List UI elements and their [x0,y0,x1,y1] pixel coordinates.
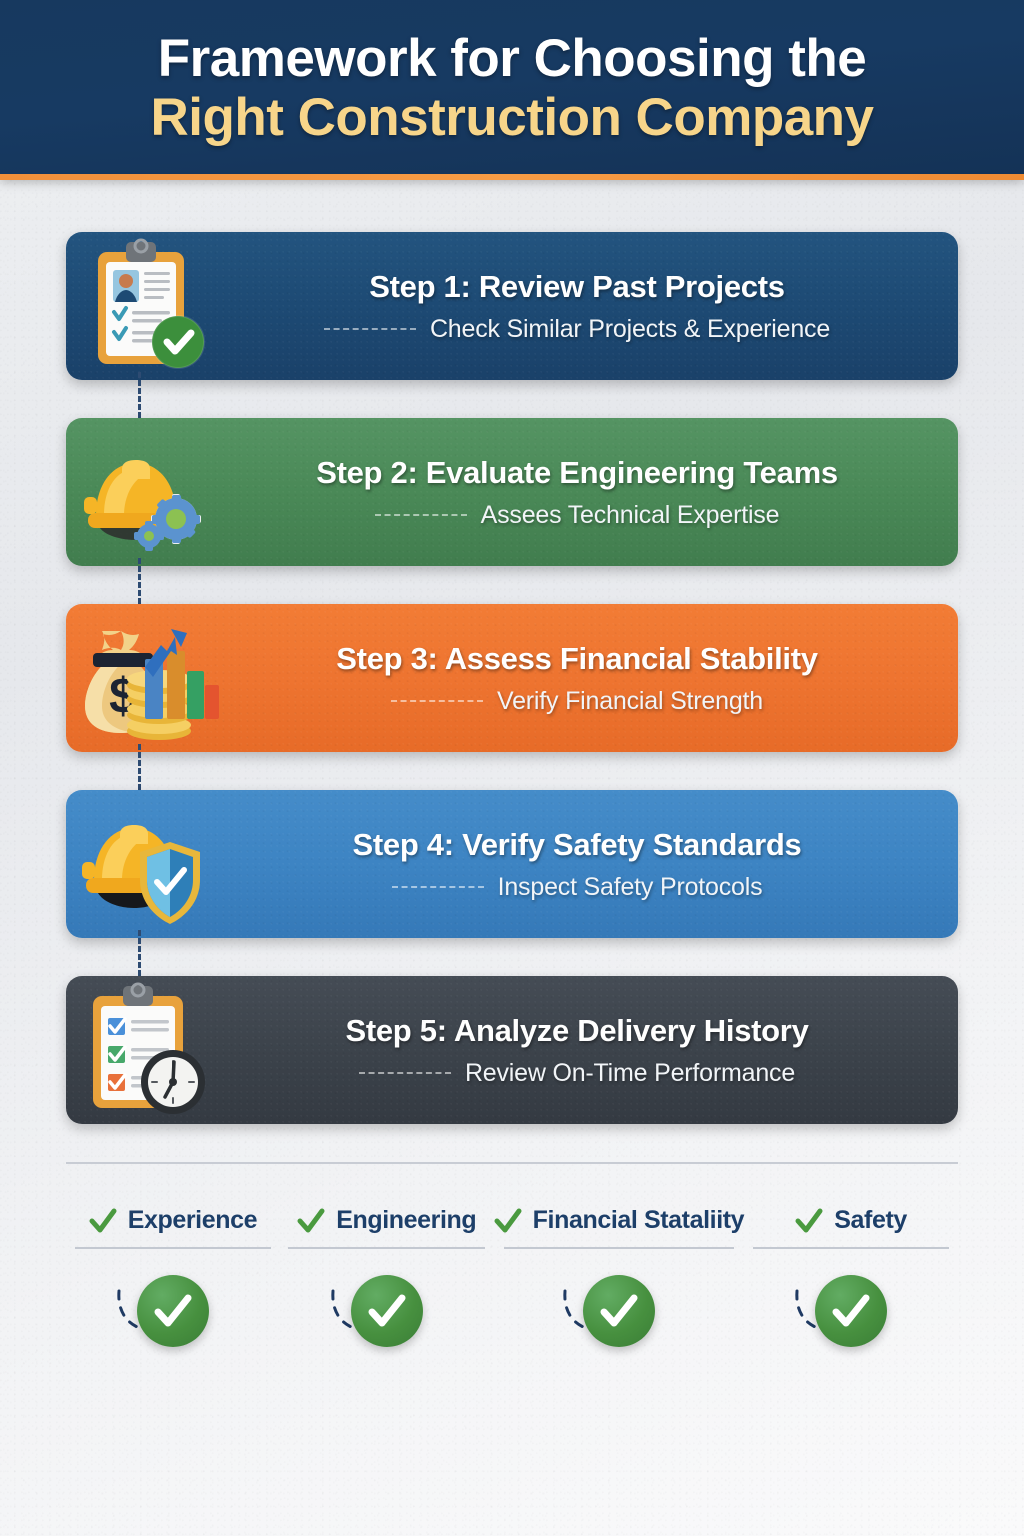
clipboard-clock-icon [66,976,226,1124]
check-icon [494,1208,522,1234]
step-card-5[interactable]: Step 5: Analyze Delivery History Review … [66,976,958,1124]
step-subtitle-4: Inspect Safety Protocols [498,873,763,902]
badge-label-financial-text: Financial Stataliity [533,1206,745,1235]
check-icon [297,1208,325,1234]
hardhat-shield-check-icon [66,790,226,938]
hardhat-gears-icon [66,418,226,566]
page-header: Framework for Choosing the Right Constru… [0,0,1024,180]
step-wrapper-1: Step 1: Review Past Projects Check Simil… [66,232,958,380]
step-title-2: Step 2: Evaluate Engineering Teams [316,455,838,491]
badge-row: Experience Engineering [66,1206,958,1347]
check-circle-safety[interactable] [815,1275,887,1347]
step-wrapper-4: Step 4: Verify Safety Standards Inspect … [66,790,958,938]
badge-experience[interactable]: Experience [66,1206,280,1347]
badge-engineering[interactable]: Engineering [280,1206,494,1347]
check-circle-experience[interactable] [137,1275,209,1347]
money-bag-coins-chart-icon: $ [66,604,226,752]
step-text-5: Step 5: Analyze Delivery History Review … [226,1013,958,1088]
step-sub-row-3: Verify Financial Strength [391,687,763,716]
badge-label-safety-text: Safety [834,1206,907,1235]
clipboard-resume-check-icon [66,232,226,380]
badge-label-engineering-text: Engineering [336,1206,476,1235]
check-icon [89,1208,117,1234]
badge-label-row-experience: Experience [75,1206,272,1249]
dashed-leader-1 [324,328,416,330]
step-wrapper-5: Step 5: Analyze Delivery History Review … [66,976,958,1124]
step-card-3[interactable]: $ [66,604,958,752]
summary-footer: Experience Engineering [66,1162,958,1347]
step-wrapper-3: $ [66,604,958,752]
check-icon [153,1293,193,1329]
dashed-leader-3 [391,700,483,702]
badge-safety[interactable]: Safety [744,1206,958,1347]
page-title-line1: Framework for Choosing the [158,31,866,88]
check-icon [795,1208,823,1234]
step-wrapper-2: Step 2: Evaluate Engineering Teams Assee… [66,418,958,566]
badge-label-experience-text: Experience [128,1206,257,1235]
dashed-leader-5 [359,1072,451,1074]
badge-bottom-experience [66,1275,280,1347]
check-circle-financial[interactable] [583,1275,655,1347]
step-card-2[interactable]: Step 2: Evaluate Engineering Teams Assee… [66,418,958,566]
connector-line-1-2 [138,372,141,418]
step-subtitle-5: Review On-Time Performance [465,1059,795,1088]
check-icon [831,1293,871,1329]
page-title-line2: Right Construction Company [150,88,873,149]
step-text-4: Step 4: Verify Safety Standards Inspect … [226,827,958,902]
connector-line-4-5 [138,930,141,976]
step-sub-row-4: Inspect Safety Protocols [392,873,763,902]
check-circle-engineering[interactable] [351,1275,423,1347]
dashed-leader-4 [392,886,484,888]
dashed-leader-2 [375,514,467,516]
steps-list: Step 1: Review Past Projects Check Simil… [0,180,1024,1124]
badge-bottom-engineering [280,1275,494,1347]
badge-financial-stability[interactable]: Financial Stataliity [494,1206,745,1347]
connector-line-3-4 [138,744,141,790]
step-text-1: Step 1: Review Past Projects Check Simil… [226,269,958,344]
badge-label-row-engineering: Engineering [288,1206,485,1249]
badge-label-row-financial: Financial Stataliity [504,1206,734,1249]
step-card-1[interactable]: Step 1: Review Past Projects Check Simil… [66,232,958,380]
step-title-3: Step 3: Assess Financial Stability [336,641,817,677]
step-title-1: Step 1: Review Past Projects [369,269,784,305]
step-sub-row-5: Review On-Time Performance [359,1059,795,1088]
step-subtitle-1: Check Similar Projects & Experience [430,315,830,344]
step-card-4[interactable]: Step 4: Verify Safety Standards Inspect … [66,790,958,938]
badge-bottom-safety [744,1275,958,1347]
step-sub-row-1: Check Similar Projects & Experience [324,315,830,344]
badge-bottom-financial [494,1275,745,1347]
step-text-2: Step 2: Evaluate Engineering Teams Assee… [226,455,958,530]
connector-line-2-3 [138,558,141,604]
badge-label-row-safety: Safety [753,1206,950,1249]
step-text-3: Step 3: Assess Financial Stability Verif… [226,641,958,716]
step-sub-row-2: Assees Technical Expertise [375,501,780,530]
step-title-4: Step 4: Verify Safety Standards [353,827,802,863]
step-title-5: Step 5: Analyze Delivery History [345,1013,808,1049]
step-subtitle-2: Assees Technical Expertise [481,501,780,530]
check-icon [599,1293,639,1329]
step-subtitle-3: Verify Financial Strength [497,687,763,716]
check-icon [367,1293,407,1329]
